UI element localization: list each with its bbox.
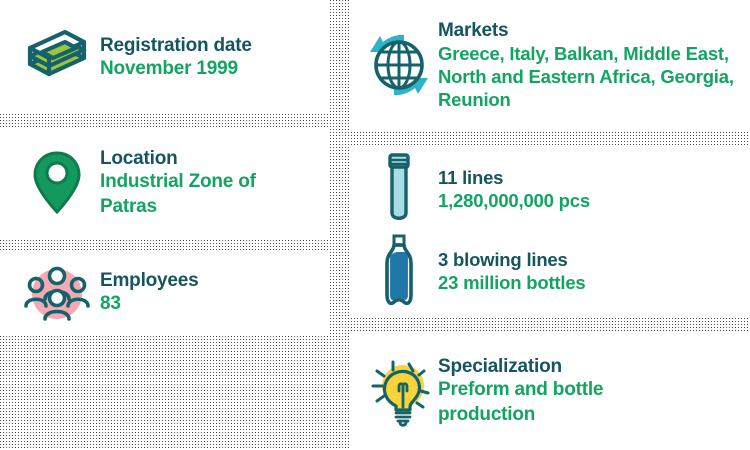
- card-markets-text: Markets Greece, Italy, Balkan, Middle Ea…: [438, 19, 750, 112]
- people-group-icon: [14, 261, 100, 323]
- card-location-text: Location Industrial Zone of Patras: [100, 147, 330, 219]
- card-heading: Specialization: [438, 355, 750, 378]
- map-pin-icon: [14, 148, 100, 218]
- card-value: 83: [100, 292, 330, 315]
- card-value: Industrial Zone of Patras: [100, 170, 290, 219]
- row-blowing-lines-text: 3 blowing lines 23 million bottles: [438, 249, 750, 294]
- card-value: Preform and bottle production: [438, 378, 648, 427]
- card-employees-text: Employees 83: [100, 269, 330, 315]
- card-production-lines: 11 lines 1,280,000,000 pcs 3 blowing lin…: [350, 146, 750, 316]
- card-location: Location Industrial Zone of Patras: [0, 127, 330, 239]
- card-employees: Employees 83: [0, 250, 330, 334]
- bottle-icon: [360, 233, 438, 311]
- card-specialization: Specialization Preform and bottle produc…: [350, 332, 750, 450]
- card-specialization-text: Specialization Preform and bottle produc…: [438, 355, 750, 428]
- card-registration-date: Registration date November 1999: [0, 0, 330, 114]
- card-heading: Markets: [438, 19, 750, 42]
- card-value: 1,280,000,000 pcs: [438, 190, 750, 213]
- infographic-canvas: Registration date November 1999 Location…: [0, 0, 750, 450]
- card-heading: Employees: [100, 269, 330, 292]
- card-value: Greece, Italy, Balkan, Middle East, Nort…: [438, 42, 738, 111]
- preform-tube-icon: [360, 151, 438, 229]
- row-blowing-lines: 3 blowing lines 23 million bottles: [360, 233, 750, 311]
- money-stack-icon: [14, 28, 100, 86]
- card-heading: 11 lines: [438, 167, 750, 190]
- row-preform-lines-text: 11 lines 1,280,000,000 pcs: [438, 167, 750, 212]
- card-value: 23 million bottles: [438, 272, 750, 295]
- card-value: November 1999: [100, 57, 330, 80]
- lightbulb-icon: [360, 355, 438, 427]
- card-heading: Location: [100, 147, 330, 170]
- card-markets: Markets Greece, Italy, Balkan, Middle Ea…: [350, 0, 750, 130]
- card-registration-date-text: Registration date November 1999: [100, 34, 330, 80]
- card-heading: 3 blowing lines: [438, 249, 750, 272]
- row-preform-lines: 11 lines 1,280,000,000 pcs: [360, 151, 750, 229]
- globe-arrows-icon: [360, 30, 438, 100]
- card-heading: Registration date: [100, 34, 330, 57]
